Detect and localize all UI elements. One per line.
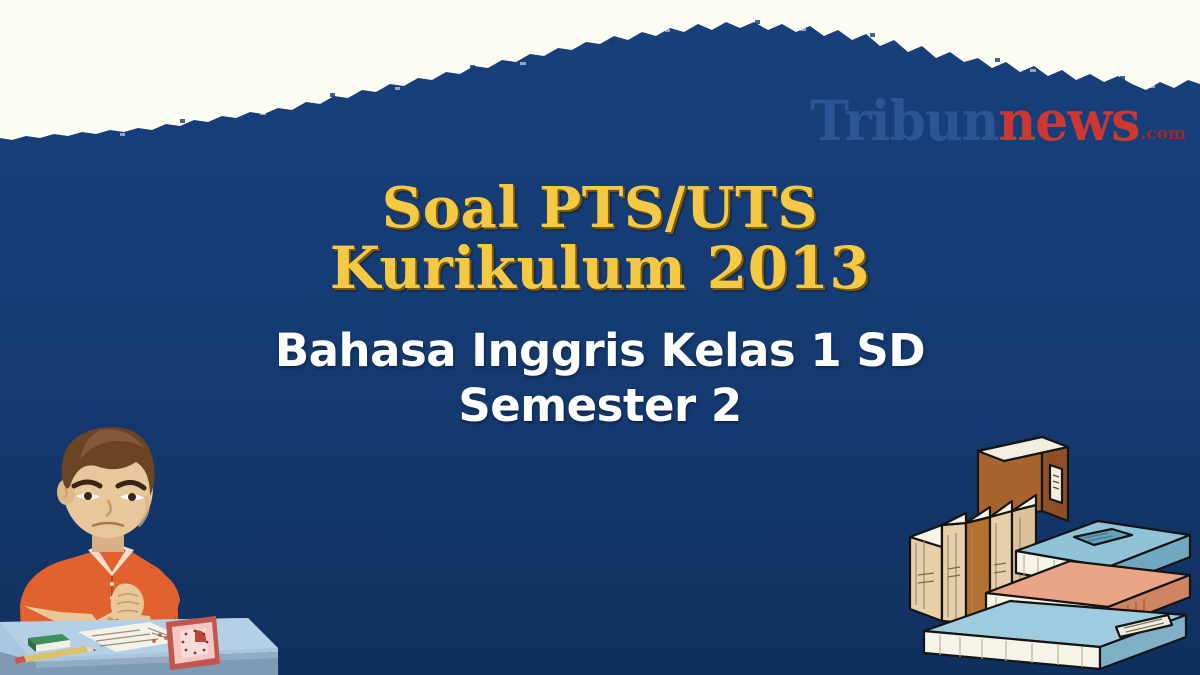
headline-line-2: Kurikulum 2013 [0,239,1200,298]
logo-text-com: .com [1140,126,1186,148]
headline-block: Soal PTS/UTS Kurikulum 2013 Bahasa Inggr… [0,180,1200,431]
illustration-boy-thinking-at-desk [0,400,300,675]
logo-text-tribun: Tribun [810,94,998,149]
headline-line-1: Soal PTS/UTS [0,180,1200,237]
tribunnews-logo: Tribun news .com [810,96,1186,148]
illustration-stack-of-books [900,425,1200,675]
subtitle-line-2: Semester 2 [0,381,1200,431]
subtitle-line-1: Bahasa Inggris Kelas 1 SD [0,326,1200,376]
logo-text-news: news [998,94,1139,149]
poster-canvas: Tribun news .com Soal PTS/UTS Kurikulum … [0,0,1200,675]
desk-with-supplies [0,616,278,675]
